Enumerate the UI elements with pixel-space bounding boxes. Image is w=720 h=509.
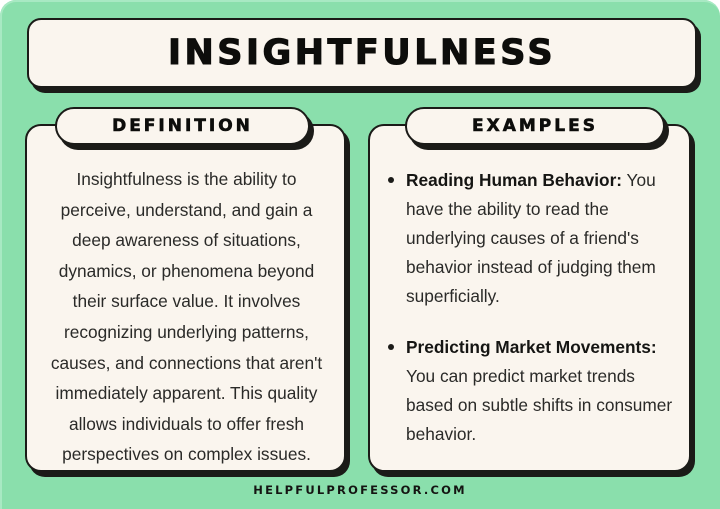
examples-heading-label: Examples — [472, 118, 598, 135]
definition-heading-pill: Definition — [55, 107, 310, 145]
examples-card: Reading Human Behavior: You have the abi… — [368, 124, 691, 472]
infographic-root: Insightfulness Insightfulness is the abi… — [0, 0, 720, 509]
definition-heading-label: Definition — [112, 118, 253, 135]
footer: HELPFULPROFESSOR.COM — [0, 481, 720, 499]
list-item: Reading Human Behavior: You have the abi… — [384, 166, 675, 311]
bullet-icon — [388, 177, 394, 183]
list-item: Predicting Market Movements: You can pre… — [384, 333, 675, 449]
footer-attribution: HELPFULPROFESSOR.COM — [253, 483, 466, 497]
example-text: You have the ability to read the underly… — [406, 170, 656, 306]
bullet-icon — [388, 344, 394, 350]
examples-list: Reading Human Behavior: You have the abi… — [384, 166, 675, 449]
definition-body: Insightfulness is the ability to perceiv… — [45, 164, 328, 470]
example-text: You can predict market trends based on s… — [406, 366, 672, 444]
examples-heading-pill: Examples — [405, 107, 665, 145]
example-term: Reading Human Behavior: — [406, 170, 622, 190]
definition-card: Insightfulness is the ability to perceiv… — [25, 124, 346, 472]
title-banner: Insightfulness — [27, 18, 697, 88]
page-title: Insightfulness — [168, 36, 556, 71]
example-term: Predicting Market Movements: — [406, 337, 657, 357]
